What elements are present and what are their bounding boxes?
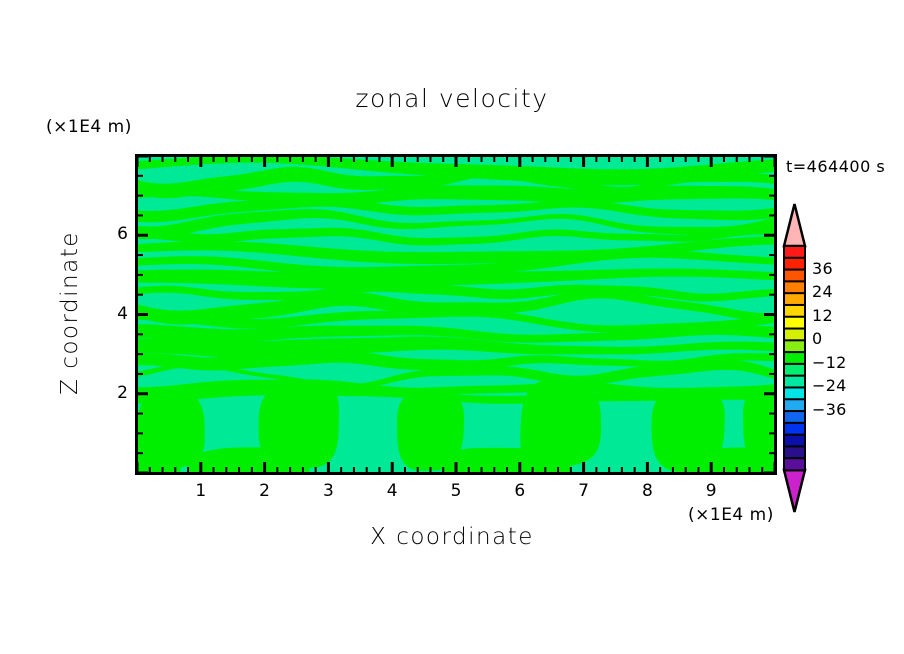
colorbar-band[interactable] bbox=[784, 258, 805, 270]
colorbar-band[interactable] bbox=[784, 411, 805, 423]
y-axis-title: Z coordinate bbox=[57, 183, 83, 443]
x-tick-label: 4 bbox=[377, 481, 407, 501]
y-tick-label: 2 bbox=[98, 383, 128, 403]
colorbar-band[interactable] bbox=[784, 364, 805, 376]
colorbar-tick-label: −12 bbox=[812, 353, 847, 372]
x-tick-label: 1 bbox=[186, 481, 216, 501]
colorbar-band[interactable] bbox=[784, 270, 805, 282]
colorbar-band[interactable] bbox=[784, 458, 805, 470]
colorbar-band[interactable] bbox=[784, 399, 805, 411]
x-axis-title: X coordinate bbox=[0, 524, 904, 550]
y-axis-unit-label: (×1E4 m) bbox=[46, 117, 132, 137]
figure-canvas: zonal velocity (×1E4 m) (×1E4 m) t=46440… bbox=[0, 0, 904, 654]
x-axis-unit-label: (×1E4 m) bbox=[688, 505, 774, 525]
colorbar-band[interactable] bbox=[784, 376, 805, 388]
colorbar-band[interactable] bbox=[784, 435, 805, 447]
colorbar-tick-label: 24 bbox=[812, 282, 833, 301]
colorbar-band[interactable] bbox=[784, 446, 805, 458]
colorbar-tick-label: 12 bbox=[812, 306, 833, 325]
colorbar-band[interactable] bbox=[784, 281, 805, 293]
colorbar-tick-label: 36 bbox=[812, 259, 833, 278]
colorbar-tick-label: −24 bbox=[812, 376, 847, 395]
colorbar-band[interactable] bbox=[784, 317, 805, 329]
colorbar-tick-label: −36 bbox=[812, 400, 847, 419]
x-tick-label: 7 bbox=[569, 481, 599, 501]
timestamp-annotation: t=464400 s bbox=[786, 157, 885, 176]
x-tick-label: 3 bbox=[313, 481, 343, 501]
y-tick-label: 4 bbox=[98, 304, 128, 324]
colorbar-band[interactable] bbox=[784, 293, 805, 305]
x-tick-label: 2 bbox=[250, 481, 280, 501]
colorbar-band[interactable] bbox=[784, 340, 805, 352]
x-tick-label: 6 bbox=[505, 481, 535, 501]
x-tick-label: 8 bbox=[632, 481, 662, 501]
colorbar-cap-max bbox=[784, 204, 805, 246]
colorbar-band[interactable] bbox=[784, 305, 805, 317]
colorbar-tick-label: 0 bbox=[812, 329, 822, 348]
colorbar-band[interactable] bbox=[784, 329, 805, 341]
colorbar-band[interactable] bbox=[784, 246, 805, 258]
colorbar-band[interactable] bbox=[784, 387, 805, 399]
chart-title: zonal velocity bbox=[0, 84, 904, 113]
y-tick-label: 6 bbox=[98, 224, 128, 244]
colorbar-cap-min bbox=[784, 470, 805, 512]
colorbar-band[interactable] bbox=[784, 352, 805, 364]
colorbar-band[interactable] bbox=[784, 423, 805, 435]
x-tick-label: 9 bbox=[696, 481, 726, 501]
x-tick-label: 5 bbox=[441, 481, 471, 501]
